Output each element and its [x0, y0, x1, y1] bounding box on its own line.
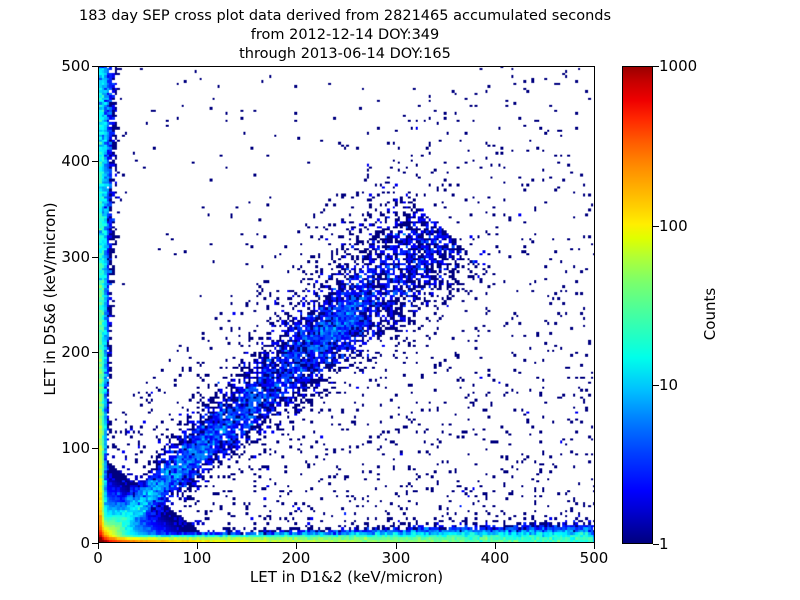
chart-title: 183 day SEP cross plot data derived from…: [0, 7, 690, 64]
x-ticklabel-400: 400: [470, 549, 520, 567]
colorbar-ticklabel-100: 100: [659, 217, 688, 235]
colorbar: [622, 66, 653, 544]
y-axis-label: LET in D5&6 (keV/micron): [41, 149, 59, 449]
x-ticklabel-200: 200: [271, 549, 321, 567]
colorbar-ticklabel-10: 10: [659, 376, 678, 394]
x-ticklabel-100: 100: [172, 549, 222, 567]
chart-title-line-2: from 2012-12-14 DOY:349: [0, 26, 690, 45]
scatter-heatmap-canvas: [99, 67, 594, 542]
x-ticklabel-0: 0: [78, 549, 118, 567]
y-tick-400: [92, 161, 98, 162]
colorbar-ticklabel-1: 1: [659, 535, 669, 553]
colorbar-label: Counts: [701, 204, 719, 424]
y-tick-300: [92, 257, 98, 258]
plot-area[interactable]: [98, 66, 595, 543]
y-ticklabel-500: 500: [48, 57, 90, 75]
figure: 183 day SEP cross plot data derived from…: [0, 0, 800, 600]
x-ticklabel-300: 300: [371, 549, 421, 567]
chart-title-line-3: through 2013-06-14 DOY:165: [0, 45, 690, 64]
y-tick-500: [92, 66, 98, 67]
x-ticklabel-500: 500: [569, 549, 619, 567]
colorbar-ticklabel-1000: 1000: [659, 57, 697, 75]
chart-title-line-1: 183 day SEP cross plot data derived from…: [0, 7, 690, 26]
x-axis-label: LET in D1&2 (keV/micron): [98, 568, 595, 586]
y-tick-100: [92, 448, 98, 449]
y-tick-200: [92, 352, 98, 353]
